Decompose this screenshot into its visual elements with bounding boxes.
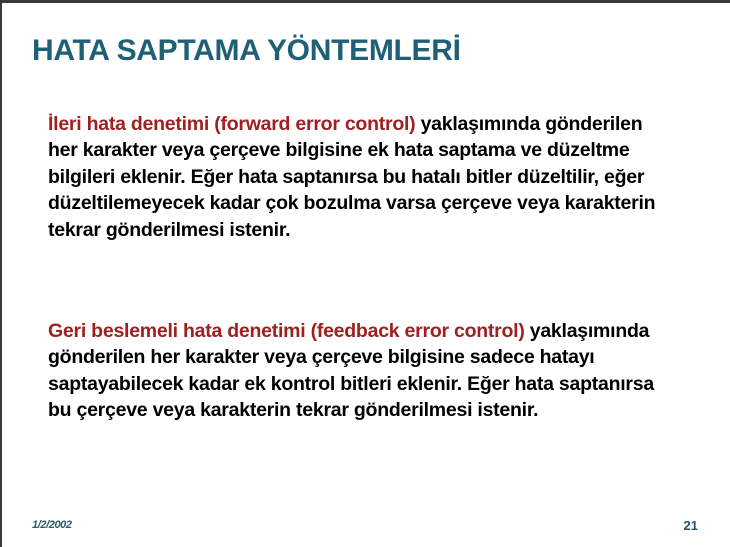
term-forward-error-control: İleri hata denetimi (forward error contr… [48, 113, 415, 135]
page-title: HATA SAPTAMA YÖNTEMLERİ [32, 35, 692, 67]
footer-date: 1/2/2002 [32, 519, 72, 531]
slide-body: İleri hata denetimi (forward error contr… [48, 111, 670, 243]
term-feedback-error-control: Geri beslemeli hata denetimi (feedback e… [48, 320, 525, 342]
presentation-slide: HATA SAPTAMA YÖNTEMLERİ İleri hata denet… [0, 0, 730, 547]
paragraph-forward-error-control: İleri hata denetimi (forward error contr… [48, 111, 670, 243]
paragraph-feedback-error-control: Geri beslemeli hata denetimi (feedback e… [48, 318, 670, 424]
footer-page-number: 21 [684, 518, 698, 533]
